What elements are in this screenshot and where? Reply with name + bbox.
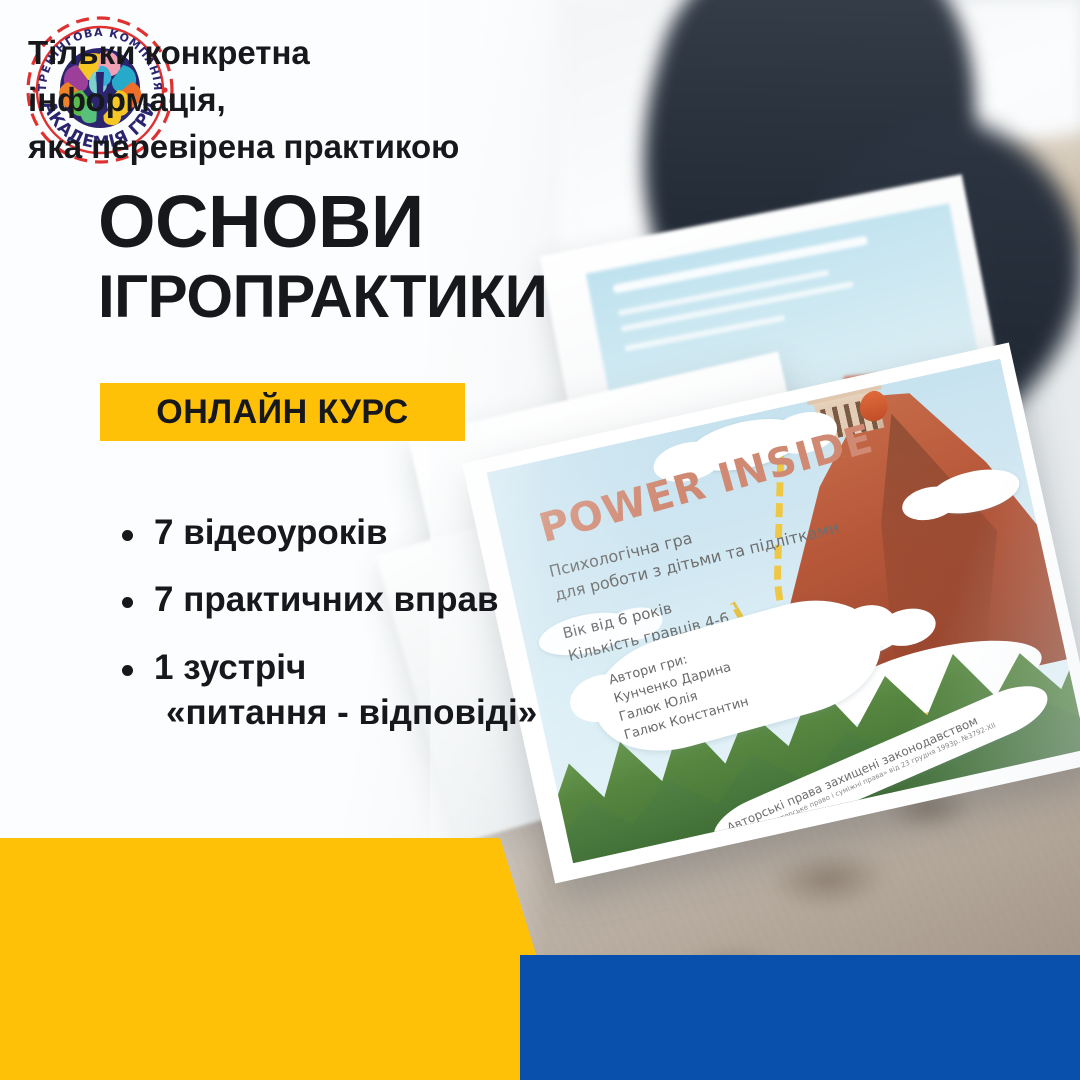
tagline-banner xyxy=(0,838,600,1080)
page-title: ОСНОВИ ІГРОПРАКТИКИ xyxy=(98,186,547,328)
tagline-line-3: яка перевірена практикою xyxy=(28,124,568,171)
list-item-text: 7 практичних вправ xyxy=(154,580,499,619)
list-item-text: 1 зустріч xyxy=(154,648,306,687)
course-type-badge-label: ОНЛАЙН КУРС xyxy=(156,393,408,432)
course-type-badge: ОНЛАЙН КУРС xyxy=(100,383,465,441)
page-title-line-2: ІГРОПРАКТИКИ xyxy=(98,265,547,328)
tagline-text: Тільки конкретна інформація, яка перевір… xyxy=(28,30,568,171)
list-item-text: 7 відеоуроків xyxy=(154,513,388,552)
tagline-line-2: інформація, xyxy=(28,77,568,124)
tagline-line-1: Тільки конкретна xyxy=(28,30,568,77)
list-item: 7 практичних вправ xyxy=(108,579,648,620)
list-item-subtext: «питання - відповіді» xyxy=(166,692,648,733)
course-features-list: 7 відеоуроків 7 практичних вправ 1 зустр… xyxy=(108,512,648,759)
list-item: 1 зустріч «питання - відповіді» xyxy=(108,647,648,734)
accent-bar xyxy=(520,955,1080,1080)
page-title-line-1: ОСНОВИ xyxy=(98,186,547,259)
promo-poster: POWER INSIDE Психологічна гра для роботи… xyxy=(0,0,1080,1080)
list-item: 7 відеоуроків xyxy=(108,512,648,553)
